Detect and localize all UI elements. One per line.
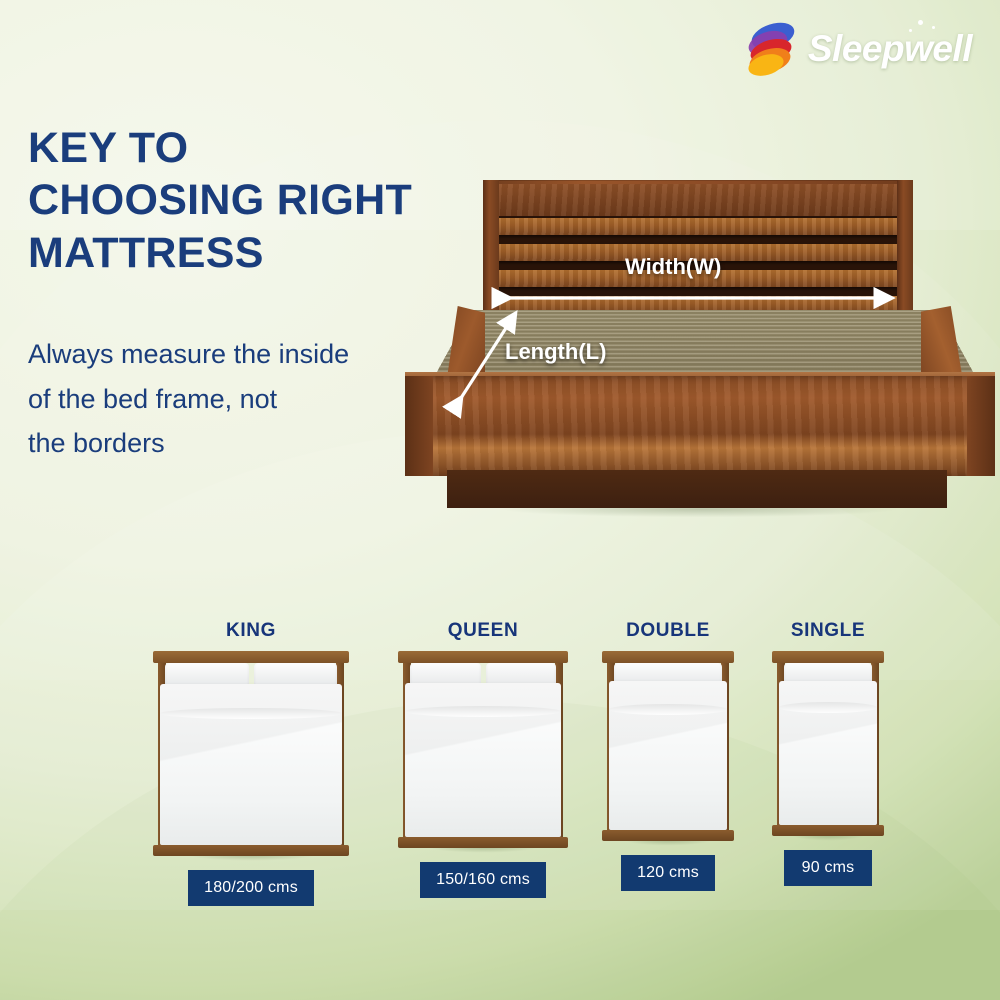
sparkle-icon xyxy=(909,29,912,32)
footboard-edge-left xyxy=(405,376,433,476)
bed-size-name: SINGLE xyxy=(718,620,938,642)
subtitle-line-2: of the bed frame, not xyxy=(28,377,349,422)
duvet xyxy=(609,681,727,830)
bed-headboard-rail xyxy=(153,651,349,663)
bed-size-name: KING xyxy=(141,620,361,642)
duvet xyxy=(779,681,877,825)
duvet-fold xyxy=(160,708,342,719)
bed-size-card: SINGLE90 cms xyxy=(718,620,938,886)
bed-size-dimension: 180/200 cms xyxy=(188,870,314,906)
duvet-fold xyxy=(609,704,727,715)
bed-headboard-rail xyxy=(602,651,734,663)
bed-headboard-rail xyxy=(398,651,568,663)
bed-top-view xyxy=(602,651,734,841)
sparkle-icon xyxy=(918,20,923,25)
title-line-1: KEY TO xyxy=(28,122,412,174)
bed-top-view xyxy=(398,651,568,848)
bed-footboard-rail xyxy=(602,830,734,841)
bed-top-view xyxy=(772,651,884,836)
bed-size-comparison: KING180/200 cmsQUEEN150/160 cmsDOUBLE120… xyxy=(0,620,1000,930)
subtitle-line-3: the borders xyxy=(28,421,349,466)
duvet-fold xyxy=(779,702,877,713)
brand-logo: Sleepwell xyxy=(746,22,972,76)
bed-plinth xyxy=(447,470,947,508)
width-label: Width(W) xyxy=(625,254,721,280)
bed-headboard-rail xyxy=(772,651,884,663)
bed-size-dimension: 150/160 cms xyxy=(420,862,546,898)
bed-size-dimension: 90 cms xyxy=(784,850,872,886)
subtitle-line-1: Always measure the inside xyxy=(28,332,349,377)
title-line-2: CHOOSING RIGHT xyxy=(28,174,412,226)
headboard-top-rail xyxy=(497,184,899,216)
bed-frame-illustration xyxy=(405,180,995,520)
sleepwell-s-logo-icon xyxy=(746,22,796,76)
length-label: Length(L) xyxy=(505,339,606,365)
footboard-edge-right xyxy=(967,376,995,476)
headboard-post-right xyxy=(897,180,913,320)
bed-size-card: KING180/200 cms xyxy=(141,620,361,906)
bed-footboard-rail xyxy=(772,825,884,836)
page-title: KEY TO CHOOSING RIGHT MATTRESS xyxy=(28,122,412,279)
page-subtitle: Always measure the inside of the bed fra… xyxy=(28,332,349,466)
headboard xyxy=(483,180,913,320)
duvet-fold xyxy=(405,706,561,717)
duvet xyxy=(405,683,561,837)
bed-top-view xyxy=(153,651,349,856)
title-line-3: MATTRESS xyxy=(28,227,412,279)
headboard-post-left xyxy=(483,180,499,320)
sparkle-icon xyxy=(932,26,935,29)
brand-name: Sleepwell xyxy=(808,28,972,70)
footboard xyxy=(405,376,995,476)
bed-footboard-rail xyxy=(398,837,568,848)
bed-footboard-rail xyxy=(153,845,349,856)
duvet xyxy=(160,684,342,845)
bed-size-dimension: 120 cms xyxy=(621,855,715,891)
